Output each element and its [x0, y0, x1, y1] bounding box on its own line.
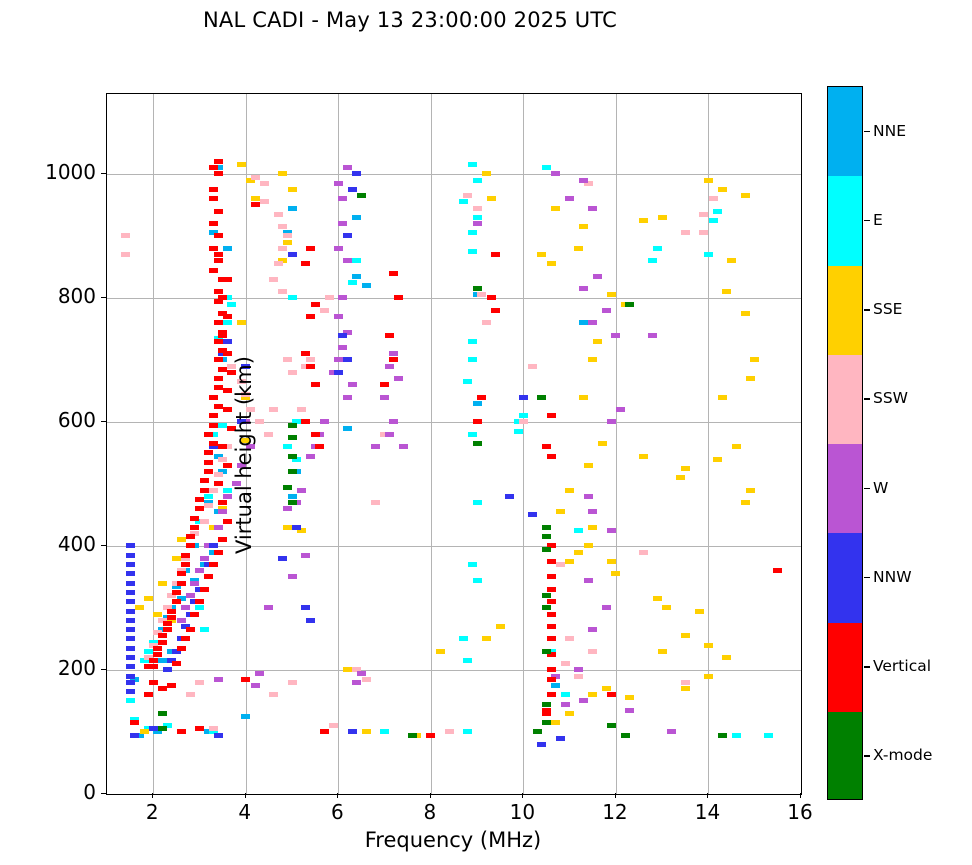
data-point [334, 246, 343, 251]
data-point [639, 550, 648, 555]
data-point [338, 196, 347, 201]
data-point [177, 646, 186, 651]
data-point [348, 187, 357, 192]
chart-title: NAL CADI - May 13 23:00:00 2025 UTC [0, 8, 820, 32]
data-point [218, 295, 227, 300]
data-point [214, 376, 223, 381]
y-tick-label: 800 [6, 284, 96, 308]
data-point [607, 528, 616, 533]
data-point [574, 528, 583, 533]
data-point [574, 667, 583, 672]
data-point [704, 643, 713, 648]
data-point [292, 525, 301, 530]
data-point [722, 289, 731, 294]
data-point [704, 674, 713, 679]
data-point [602, 686, 611, 691]
data-point [288, 574, 297, 579]
colorbar-tick-label-ssw: SSW [873, 389, 908, 407]
data-point [459, 199, 468, 204]
data-point [385, 364, 394, 369]
y-tick-label: 600 [6, 408, 96, 432]
data-point [149, 726, 158, 731]
data-point [556, 509, 565, 514]
data-point [214, 525, 223, 530]
data-point [343, 165, 352, 170]
data-point [658, 649, 667, 654]
ionogram-figure: NAL CADI - May 13 23:00:00 2025 UTC 2468… [0, 0, 972, 865]
data-point [320, 729, 329, 734]
colorbar-segment-ssw [828, 355, 862, 445]
data-point [167, 683, 176, 688]
data-point [547, 677, 556, 682]
data-point [126, 689, 135, 694]
data-point [468, 562, 477, 567]
data-point [223, 314, 232, 319]
data-point [301, 553, 310, 558]
data-point [158, 726, 167, 731]
data-point [542, 702, 551, 707]
data-point [163, 627, 172, 632]
x-tick-label: 2 [129, 800, 175, 824]
data-point [394, 376, 403, 381]
data-point [653, 246, 662, 251]
colorbar[interactable] [827, 86, 863, 800]
colorbar-tick-label-nne: NNE [873, 122, 906, 140]
data-point [278, 224, 287, 229]
data-point [343, 395, 352, 400]
data-point [607, 723, 616, 728]
data-point [343, 357, 352, 362]
colorbar-segment-vertical [828, 623, 862, 713]
data-point [126, 599, 135, 604]
data-point [301, 351, 310, 356]
data-point [255, 671, 264, 676]
data-point [218, 444, 227, 449]
data-point [547, 559, 556, 564]
colorbar-tick-label-vertical: Vertical [873, 657, 931, 675]
data-point [158, 711, 167, 716]
data-point [338, 333, 347, 338]
data-point [681, 686, 690, 691]
data-point [746, 488, 755, 493]
data-point [750, 357, 759, 362]
data-point [773, 568, 782, 573]
data-point [468, 230, 477, 235]
data-point [320, 419, 329, 424]
data-point [505, 494, 514, 499]
data-point [463, 658, 472, 663]
data-point [130, 733, 139, 738]
data-point [741, 500, 750, 505]
data-point [200, 488, 209, 493]
colorbar-segment-x-mode [828, 712, 862, 800]
data-point [537, 395, 546, 400]
data-point [551, 720, 560, 725]
data-point [223, 351, 232, 356]
data-point [126, 571, 135, 576]
data-point [181, 562, 190, 567]
data-point [542, 720, 551, 725]
data-point [537, 742, 546, 747]
data-point [311, 382, 320, 387]
y-tick-label: 400 [6, 532, 96, 556]
data-point [209, 562, 218, 567]
data-point [204, 503, 213, 508]
data-point [477, 292, 486, 297]
data-point [209, 268, 218, 273]
data-point [579, 320, 588, 325]
data-point [362, 677, 371, 682]
data-point [334, 370, 343, 375]
data-point [551, 171, 560, 176]
data-point [288, 435, 297, 440]
data-point [389, 271, 398, 276]
data-point [385, 432, 394, 437]
y-tick [101, 173, 106, 174]
data-point [260, 199, 269, 204]
data-point [325, 295, 334, 300]
data-point [704, 252, 713, 257]
data-point [547, 599, 556, 604]
data-point [588, 692, 597, 697]
data-point [195, 506, 204, 511]
data-point [209, 543, 218, 548]
data-point [209, 395, 218, 400]
data-point [283, 357, 292, 362]
data-point [149, 680, 158, 685]
data-point [584, 494, 593, 499]
data-point [371, 444, 380, 449]
data-point [491, 308, 500, 313]
data-point [463, 193, 472, 198]
data-point [547, 692, 556, 697]
colorbar-tick [864, 220, 870, 221]
data-point [214, 320, 223, 325]
data-point [473, 206, 482, 211]
data-point [126, 664, 135, 669]
data-point [602, 605, 611, 610]
data-point [283, 233, 292, 238]
data-point [547, 612, 556, 617]
data-point [126, 680, 135, 685]
data-point [181, 636, 190, 641]
data-point [195, 599, 204, 604]
data-point [588, 357, 597, 362]
data-point [681, 680, 690, 685]
data-point [288, 469, 297, 474]
data-point [408, 733, 417, 738]
y-tick [101, 297, 106, 298]
data-point [218, 457, 227, 462]
data-point [153, 646, 162, 651]
data-point [704, 178, 713, 183]
plot-area[interactable] [106, 93, 802, 795]
data-point [607, 292, 616, 297]
data-point [186, 627, 195, 632]
colorbar-tick [864, 398, 870, 399]
data-point [214, 677, 223, 682]
data-point [741, 193, 750, 198]
data-point [556, 736, 565, 741]
data-point [172, 661, 181, 666]
data-layer [107, 94, 801, 794]
data-point [126, 674, 135, 679]
data-point [306, 314, 315, 319]
data-point [283, 444, 292, 449]
data-point [204, 450, 213, 455]
data-point [288, 187, 297, 192]
data-point [551, 206, 560, 211]
data-point [338, 221, 347, 226]
data-point [389, 351, 398, 356]
data-point [718, 733, 727, 738]
data-point [588, 649, 597, 654]
data-point [699, 212, 708, 217]
data-point [487, 196, 496, 201]
data-point [718, 187, 727, 192]
data-point [459, 636, 468, 641]
data-point [542, 605, 551, 610]
data-point [177, 729, 186, 734]
data-point [158, 640, 167, 645]
data-point [278, 171, 287, 176]
data-point [144, 649, 153, 654]
data-point [186, 534, 195, 539]
data-point [223, 488, 232, 493]
data-point [514, 429, 523, 434]
data-point [436, 649, 445, 654]
data-point [611, 571, 620, 576]
colorbar-segment-nnw [828, 533, 862, 623]
data-point [473, 221, 482, 226]
data-point [343, 233, 352, 238]
data-point [306, 357, 315, 362]
data-point [579, 395, 588, 400]
data-point [214, 209, 223, 214]
data-point [565, 196, 574, 201]
data-point [204, 494, 213, 499]
data-point [288, 454, 297, 459]
x-tick [615, 793, 616, 798]
data-point [190, 581, 199, 586]
data-point [283, 240, 292, 245]
data-point [195, 680, 204, 685]
data-point [394, 295, 403, 300]
x-tick [152, 793, 153, 798]
data-point [574, 674, 583, 679]
data-point [473, 286, 482, 291]
data-point [709, 218, 718, 223]
data-point [200, 627, 209, 632]
data-point [288, 423, 297, 428]
data-point [468, 249, 477, 254]
data-point [126, 581, 135, 586]
x-tick [707, 793, 708, 798]
data-point [593, 274, 602, 279]
data-point [343, 426, 352, 431]
data-point [126, 553, 135, 558]
data-point [288, 494, 297, 499]
data-point [588, 206, 597, 211]
data-point [214, 357, 223, 362]
data-point [380, 382, 389, 387]
data-point [764, 733, 773, 738]
data-point [611, 333, 620, 338]
x-tick [522, 793, 523, 798]
data-point [288, 370, 297, 375]
data-point [214, 404, 223, 409]
data-point [255, 419, 264, 424]
x-tick-label: 14 [684, 800, 730, 824]
data-point [121, 233, 130, 238]
data-point [616, 407, 625, 412]
data-point [334, 314, 343, 319]
data-point [172, 590, 181, 595]
data-point [551, 683, 560, 688]
data-point [223, 339, 232, 344]
data-point [126, 590, 135, 595]
data-point [593, 339, 602, 344]
data-point [306, 618, 315, 623]
y-tick-label: 0 [6, 780, 96, 804]
colorbar-tick-label-nnw: NNW [873, 568, 912, 586]
data-point [482, 171, 491, 176]
y-axis-label: Virtual height (km) [232, 105, 256, 805]
data-point [709, 196, 718, 201]
data-point [473, 441, 482, 446]
data-point [681, 230, 690, 235]
data-point [695, 609, 704, 614]
data-point [126, 627, 135, 632]
colorbar-tick [864, 577, 870, 578]
data-point [565, 711, 574, 716]
data-point [699, 230, 708, 235]
data-point [547, 587, 556, 592]
data-point [177, 537, 186, 542]
data-point [126, 698, 135, 703]
y-tick [101, 669, 106, 670]
data-point [588, 627, 597, 632]
data-point [547, 636, 556, 641]
data-point [473, 500, 482, 505]
x-tick-label: 10 [499, 800, 545, 824]
data-point [214, 252, 223, 257]
data-point [579, 178, 588, 183]
data-point [181, 553, 190, 558]
data-point [565, 488, 574, 493]
data-point [190, 612, 199, 617]
data-point [343, 667, 352, 672]
data-point [463, 729, 472, 734]
data-point [352, 680, 361, 685]
data-point [223, 277, 232, 282]
data-point [426, 733, 435, 738]
data-point [348, 382, 357, 387]
data-point [126, 618, 135, 623]
data-point [278, 246, 287, 251]
data-point [158, 658, 167, 663]
data-point [153, 612, 162, 617]
data-point [209, 423, 218, 428]
data-point [468, 162, 477, 167]
data-point [126, 655, 135, 660]
x-tick-label: 12 [592, 800, 638, 824]
data-point [352, 215, 361, 220]
data-point [126, 646, 135, 651]
data-point [200, 478, 209, 483]
y-tick-label: 1000 [6, 160, 96, 184]
data-point [181, 605, 190, 610]
data-point [209, 441, 218, 446]
data-point [561, 692, 570, 697]
colorbar-tick [864, 309, 870, 310]
data-point [186, 692, 195, 697]
colorbar-tick [864, 488, 870, 489]
data-point [214, 171, 223, 176]
data-point [542, 525, 551, 530]
data-point [195, 568, 204, 573]
data-point [732, 733, 741, 738]
data-point [209, 196, 218, 201]
data-point [278, 289, 287, 294]
data-point [625, 708, 634, 713]
data-point [214, 339, 223, 344]
data-point [579, 224, 588, 229]
colorbar-segment-nne [828, 87, 862, 177]
data-point [542, 165, 551, 170]
data-point [204, 432, 213, 437]
data-point [389, 357, 398, 362]
data-point [598, 441, 607, 446]
data-point [537, 252, 546, 257]
data-point [676, 475, 685, 480]
data-point [584, 578, 593, 583]
data-point [477, 395, 486, 400]
data-point [218, 509, 227, 514]
data-point [283, 525, 292, 530]
data-point [200, 587, 209, 592]
x-axis-label: Frequency (MHz) [106, 828, 800, 852]
data-point [269, 277, 278, 282]
data-point [209, 413, 218, 418]
data-point [607, 559, 616, 564]
data-point [264, 432, 273, 437]
data-point [648, 258, 657, 263]
data-point [542, 649, 551, 654]
data-point [579, 286, 588, 291]
data-point [214, 159, 223, 164]
data-point [496, 624, 505, 629]
data-point [362, 729, 371, 734]
data-point [473, 215, 482, 220]
data-point [163, 621, 172, 626]
data-point [445, 729, 454, 734]
data-point [519, 413, 528, 418]
data-point [269, 692, 278, 697]
data-point [172, 556, 181, 561]
data-point [542, 711, 551, 716]
data-point [547, 413, 556, 418]
data-point [482, 636, 491, 641]
data-point [186, 593, 195, 598]
data-point [223, 463, 232, 468]
data-point [329, 723, 338, 728]
data-point [288, 206, 297, 211]
data-point [547, 574, 556, 579]
data-point [362, 283, 371, 288]
data-point [149, 658, 158, 663]
data-point [667, 729, 676, 734]
